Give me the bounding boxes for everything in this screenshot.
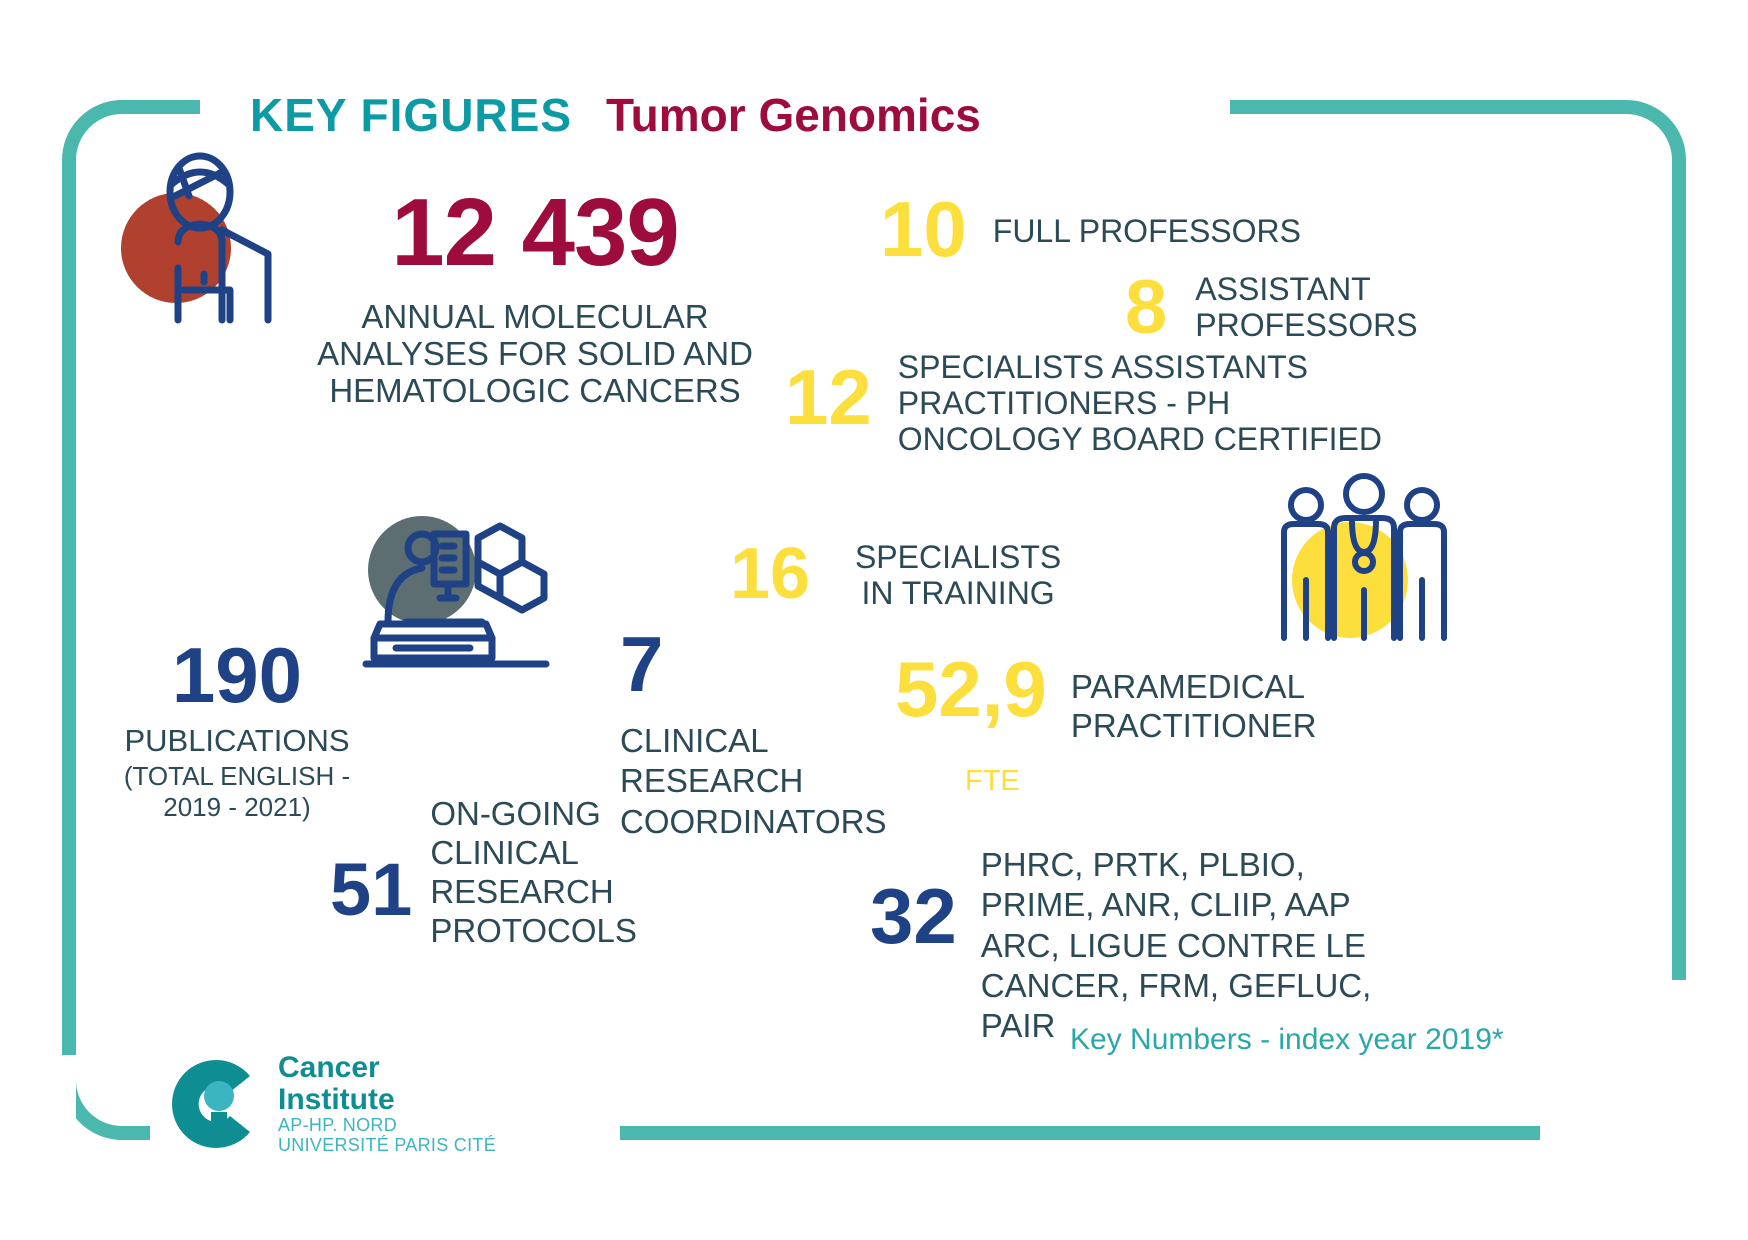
logo-line-institute: Institute xyxy=(278,1084,496,1116)
logo-sub-university: UNIVERSITÉ PARIS CITÉ xyxy=(278,1135,496,1155)
stat-value-protocols: 51 xyxy=(330,853,412,927)
cancer-institute-logo: Cancer Institute AP-HP. NORD UNIVERSITÉ … xyxy=(168,1052,496,1155)
stat-clinical-research-coordinators: 7 CLINICAL RESEARCH COORDINATORS xyxy=(620,625,885,842)
stat-label-protocols: CLINICAL RESEARCH PROTOCOLS xyxy=(430,834,620,951)
stat-label-assistant-professors: ASSISTANT PROFESSORS xyxy=(1195,272,1445,344)
frame-gap-right xyxy=(1540,980,1700,1160)
stat-value-full-professors: 10 xyxy=(880,190,967,268)
stat-specialists-practitioners: 12 SPECIALISTS ASSISTANTS PRACTITIONERS … xyxy=(785,358,1418,457)
stat-value-coordinators: 7 xyxy=(620,625,885,703)
footer-note: Key Numbers - index year 2019* xyxy=(1070,1023,1504,1057)
stat-label-specialists: SPECIALISTS ASSISTANTS PRACTITIONERS - P… xyxy=(898,350,1418,457)
stat-clinical-research-protocols: 51 ON-GOING CLINICAL RESEARCH PROTOCOLS xyxy=(330,795,620,951)
stat-unit-fte: FTE xyxy=(965,765,1020,798)
logo-sub-aphp: AP-HP. NORD xyxy=(278,1115,496,1135)
stat-full-professors: 10 FULL PROFESSORS xyxy=(880,190,1301,268)
stat-sublabel-publications: (TOTAL ENGLISH - 2019 - 2021) xyxy=(112,761,362,823)
stat-value-assistant-professors: 8 xyxy=(1125,270,1167,346)
page-header: KEY FIGURES Tumor Genomics xyxy=(250,88,981,142)
stat-publications: 190 PUBLICATIONS (TOTAL ENGLISH - 2019 -… xyxy=(112,636,362,823)
stat-value-in-training: 16 xyxy=(730,538,810,610)
stat-specialists-in-training: 16 SPECIALISTS IN TRAINING xyxy=(730,538,1078,612)
stat-assistant-professors: 8 ASSISTANT PROFESSORS xyxy=(1125,270,1445,346)
stat-paramedical-practitioner: 52,9 PARAMEDICAL PRACTITIONER xyxy=(895,650,1331,746)
medical-team-icon xyxy=(1272,470,1462,645)
cancer-institute-logo-mark xyxy=(168,1056,264,1152)
stat-sublabel-protocols: ON-GOING xyxy=(430,795,620,834)
stat-label-paramedical: PARAMEDICAL PRACTITIONER xyxy=(1071,668,1331,746)
stat-annual-analyses: 12 439 ANNUAL MOLECULAR ANALYSES FOR SOL… xyxy=(300,185,770,410)
stat-label-in-training: SPECIALISTS IN TRAINING xyxy=(838,540,1078,612)
page-title: KEY FIGURES xyxy=(250,88,572,142)
stat-label-publications: PUBLICATIONS xyxy=(112,724,362,759)
microscope-icon xyxy=(360,512,560,677)
frame-gap-left xyxy=(52,1055,76,1175)
stat-value-publications: 190 xyxy=(112,636,362,714)
logo-line-cancer: Cancer xyxy=(278,1052,496,1084)
patient-icon xyxy=(118,150,308,325)
stat-label-analyses: ANNUAL MOLECULAR ANALYSES FOR SOLID AND … xyxy=(300,299,770,410)
stat-value-specialists: 12 xyxy=(785,358,872,436)
stat-value-paramedical: 52,9 xyxy=(895,650,1047,728)
stat-label-coordinators: CLINICAL RESEARCH COORDINATORS xyxy=(620,721,885,842)
page-subtitle-theme: Tumor Genomics xyxy=(606,88,981,142)
stat-value-funding: 32 xyxy=(870,877,957,955)
stat-label-funding: PHRC, PRTK, PLBIO, PRIME, ANR, CLIIP, AA… xyxy=(981,845,1411,1046)
stat-value-analyses: 12 439 xyxy=(300,185,770,281)
stat-label-full-professors: FULL PROFESSORS xyxy=(993,214,1301,250)
stat-funding-sources: 32 PHRC, PRTK, PLBIO, PRIME, ANR, CLIIP,… xyxy=(870,845,1411,1046)
